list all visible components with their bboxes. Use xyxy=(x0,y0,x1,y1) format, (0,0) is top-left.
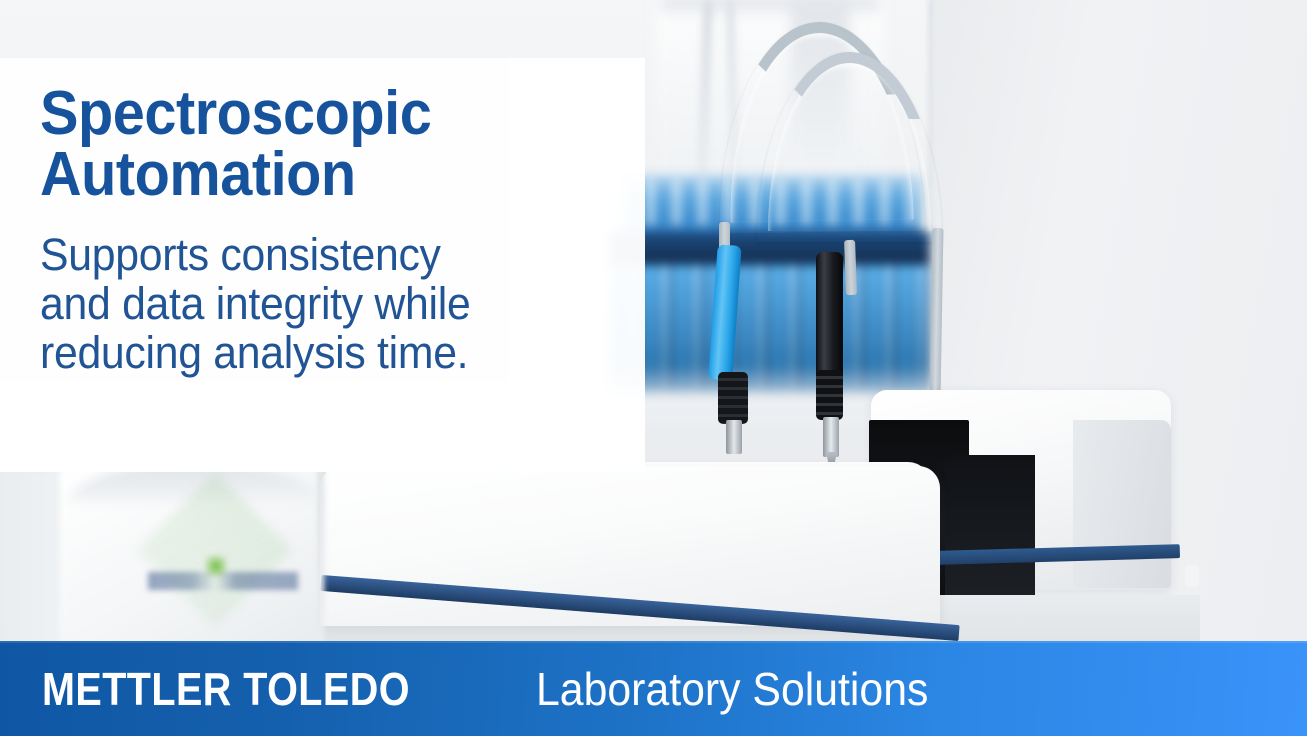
subheadline: Supports consistency and data integrity … xyxy=(40,230,601,377)
probe-black-connector xyxy=(816,370,843,420)
brand-tagline: Laboratory Solutions xyxy=(536,662,928,716)
probe-blue-connector xyxy=(718,372,748,424)
foreground-device-edge xyxy=(318,468,324,653)
headline: Spectroscopic Automation xyxy=(40,84,589,206)
marketing-banner: Spectroscopic Automation Supports consis… xyxy=(0,0,1307,736)
instrument-rear-side xyxy=(1073,420,1171,588)
text-panel-content: Spectroscopic Automation Supports consis… xyxy=(40,84,630,377)
brand-bar: METTLER TOLEDO Laboratory Solutions xyxy=(0,641,1307,736)
instrument-dark-gap-lower xyxy=(945,455,1035,605)
probe-black-fitting xyxy=(823,417,839,457)
probe-blue-fitting xyxy=(726,420,742,454)
text-panel: Spectroscopic Automation Supports consis… xyxy=(0,58,645,472)
company-logo-wordmark: METTLER TOLEDO xyxy=(42,662,410,716)
foreground-device-logo-text xyxy=(148,572,298,590)
instrument-notch xyxy=(1185,565,1199,587)
tubing-tail-mid xyxy=(844,240,857,295)
